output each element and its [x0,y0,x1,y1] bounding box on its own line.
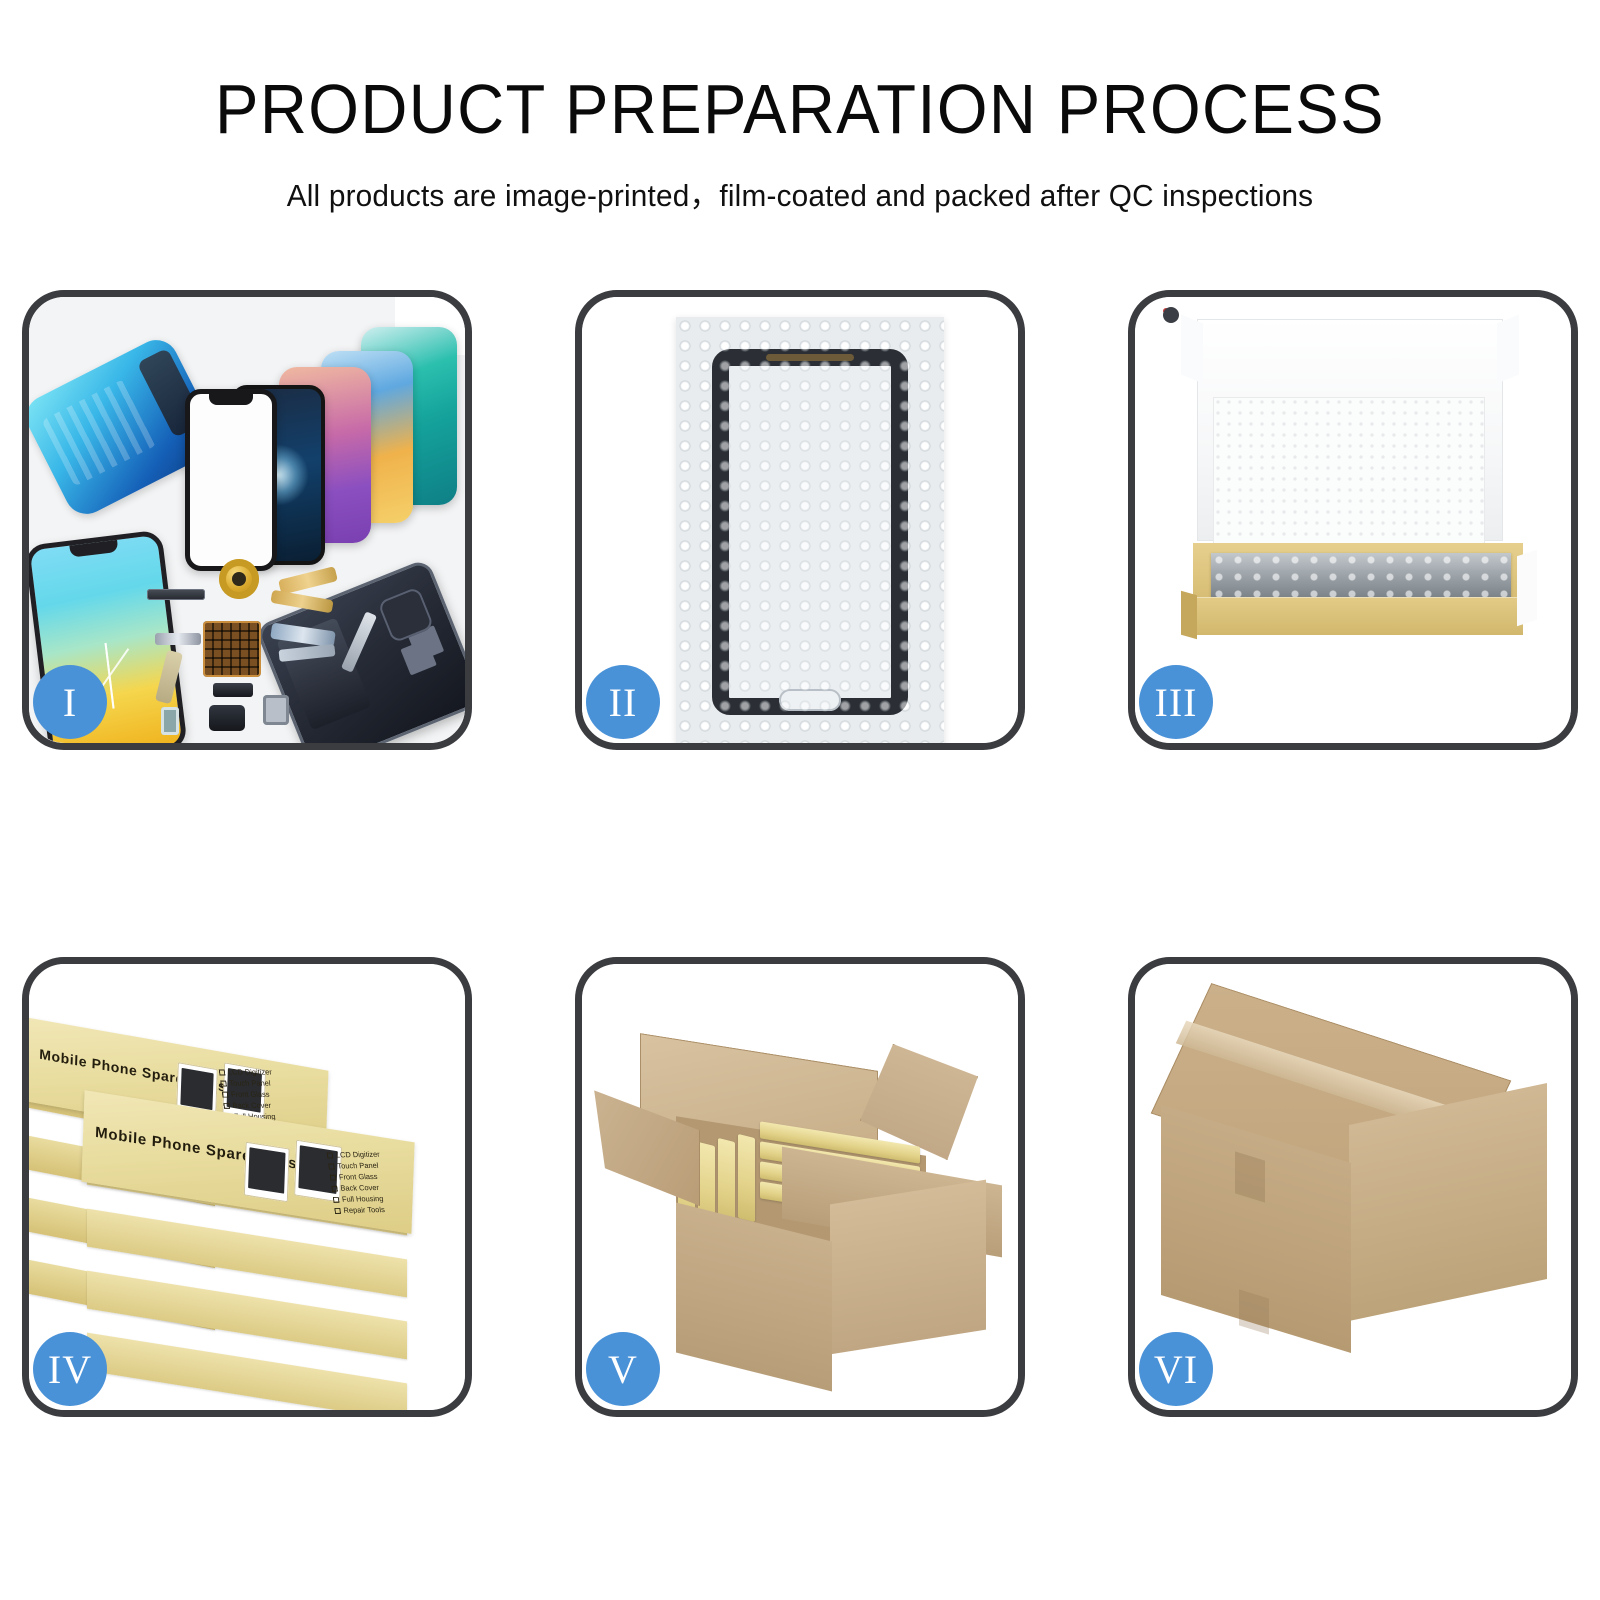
checkbox-icon [328,1164,335,1170]
checklist-item: LCD Digitizer [219,1068,273,1076]
home-button-cutout [779,689,841,711]
camera-module-icon [263,695,289,725]
step-panel-2[interactable]: II [575,290,1025,750]
checklist-label: LCD Digitizer [227,1067,272,1076]
page-header: PRODUCT PREPARATION PROCESS All products… [0,0,1600,215]
step-panel-6[interactable]: VI [1128,957,1578,1417]
step-badge-1: I [33,665,107,739]
foam-liner [1213,397,1485,551]
page-title: PRODUCT PREPARATION PROCESS [56,74,1544,144]
checkbox-icon [327,1152,334,1158]
retail-box-item [738,1134,755,1222]
carton-side-face [1349,1083,1547,1321]
checklist-item: Touch Panel [220,1080,274,1088]
step-panel-5[interactable]: V [575,957,1025,1417]
repair-tool-icon [341,611,377,673]
checklist-label: Back Cover [232,1101,272,1110]
process-step-grid: I II III [22,290,1578,1417]
checklist-item: Full Housing [333,1195,387,1203]
sim-tray-icon [161,707,179,735]
step-badge-4: IV [33,1332,107,1406]
ribbon-cable-icon [155,633,201,645]
step-badge-5: V [586,1332,660,1406]
checklist-item: LCD Digitizer [326,1151,380,1159]
kraft-box-front-wall [1193,597,1523,635]
photo-screen [248,1147,285,1193]
checkbox-icon [333,1197,340,1203]
checkbox-icon [219,1069,226,1075]
checkbox-icon [222,1092,229,1098]
ribbon-cable-icon [155,650,183,704]
checkbox-icon [220,1081,227,1087]
chip-module-icon [213,683,253,697]
ic-chip-icon [203,621,261,677]
checkbox-icon [223,1103,230,1109]
step-panel-4[interactable]: Mobile Phone Spare Parts LCD Digitizer T… [22,957,472,1417]
checklist-item: Repair Tools [334,1206,388,1214]
checkbox-icon [330,1175,337,1181]
phone-screen-collage [179,327,465,547]
box-right-flap [1517,550,1537,626]
carton-seam-tab [1235,1151,1265,1202]
checklist-label: Back Cover [340,1183,380,1193]
step-panel-1[interactable]: I [22,290,472,750]
checkbox-icon [331,1186,338,1192]
retail-box-photo [244,1142,290,1203]
wrapped-screen-frame [712,349,908,715]
speaker-module-icon [209,705,245,731]
checklist-label: Repair Tools [343,1205,385,1215]
checklist-label: LCD Digitizer [335,1150,380,1160]
open-shipping-carton [592,1024,1012,1404]
checkbox-icon [334,1208,341,1214]
checklist-item: Touch Panel [328,1162,382,1170]
checklist-label: Front Glass [230,1090,270,1099]
checklist-label: Full Housing [341,1194,384,1204]
checklist-item: Front Glass [330,1173,384,1181]
ribbon-cable-icon [279,644,336,662]
checklist-label: Touch Panel [337,1161,379,1171]
step-badge-6: VI [1139,1332,1213,1406]
flex-cable-icon [270,590,333,614]
step-panel-3[interactable]: III [1128,290,1578,750]
retail-box-checklist: LCD Digitizer Touch Panel Front Glass Ba… [326,1151,388,1218]
carton-side-wall [830,1180,986,1355]
sealed-shipping-carton [1153,1008,1563,1388]
ribbon-cable-icon [270,623,336,648]
kraft-box-side-tab [1181,591,1197,640]
wireless-charging-coil-icon [219,559,259,599]
flex-cable-icon [278,566,338,595]
speaker-bar-icon [147,589,205,600]
step-badge-3: III [1139,665,1213,739]
spare-parts-group [147,555,397,743]
connector-dot-icon [1163,307,1179,323]
step-badge-2: II [586,665,660,739]
checklist-label: Touch Panel [229,1079,271,1088]
checklist-label: Front Glass [338,1172,378,1182]
checklist-item: Front Glass [222,1091,276,1099]
page-subtitle: All products are image-printed，film-coat… [32,170,1568,215]
checklist-item: Back Cover [331,1184,385,1192]
photo-screen [180,1068,213,1110]
checklist-item: Back Cover [223,1102,277,1110]
bubble-wrap-sheet [676,317,944,743]
front-glass-panel [185,389,277,571]
